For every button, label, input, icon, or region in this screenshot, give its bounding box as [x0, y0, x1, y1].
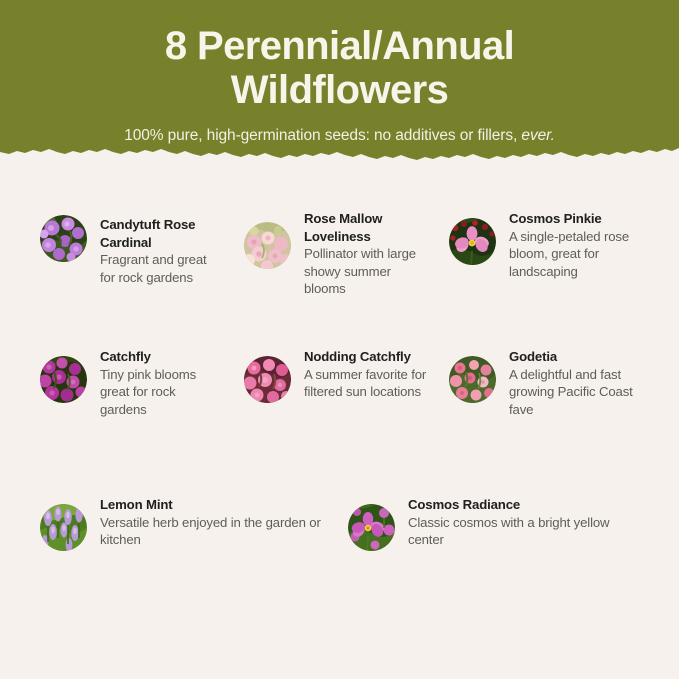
list-item-title: Lemon Mint — [100, 496, 340, 514]
list-item-text: Catchfly Tiny pink blooms great for rock… — [100, 347, 220, 418]
cosmos-pinkie-photo — [449, 218, 496, 265]
list-item-text: Rose Mallow Loveliness Pollinator with l… — [304, 209, 424, 298]
list-item[interactable]: Lemon Mint Versatile herb enjoyed in the… — [40, 495, 340, 551]
list-item[interactable]: Catchfly Tiny pink blooms great for rock… — [40, 347, 220, 418]
list-item-text: Lemon Mint Versatile herb enjoyed in the… — [100, 495, 340, 549]
list-item[interactable]: Rose Mallow Loveliness Pollinator with l… — [244, 209, 424, 298]
wildflower-row: Candytuft Rose Cardinal Fragrant and gre… — [0, 185, 679, 340]
list-item-title: Candytuft Rose Cardinal — [100, 216, 215, 251]
list-item-description: A single-petaled rose bloom, great for l… — [509, 228, 644, 281]
list-item-text: Candytuft Rose Cardinal Fragrant and gre… — [100, 215, 215, 286]
list-item-text: Nodding Catchfly A summer favorite for f… — [304, 347, 429, 401]
list-item-title: Rose Mallow Loveliness — [304, 210, 424, 245]
list-item-title: Cosmos Radiance — [408, 496, 648, 514]
list-item-text: Cosmos Radiance Classic cosmos with a br… — [408, 495, 648, 549]
list-item-title: Catchfly — [100, 348, 220, 366]
page-title-line-2: Wildflowers — [231, 68, 449, 112]
header-banner: 8 Perennial/Annual Wildflowers 100% pure… — [0, 0, 679, 172]
list-item[interactable]: Candytuft Rose Cardinal Fragrant and gre… — [40, 215, 215, 286]
list-item-text: Godetia A delightful and fast growing Pa… — [509, 347, 639, 418]
catchfly-photo — [40, 356, 87, 403]
page-subtitle-main: 100% pure, high-germination seeds: no ad… — [124, 127, 521, 144]
page-title: 8 Perennial/Annual Wildflowers — [165, 24, 514, 112]
list-item-title: Godetia — [509, 348, 639, 366]
list-item-title: Cosmos Pinkie — [509, 210, 644, 228]
list-item[interactable]: Nodding Catchfly A summer favorite for f… — [244, 347, 429, 403]
list-item-text: Cosmos Pinkie A single-petaled rose bloo… — [509, 209, 644, 280]
list-item-description: Classic cosmos with a bright yellow cent… — [408, 514, 648, 549]
list-item-description: Pollinator with large showy summer bloom… — [304, 245, 424, 298]
list-item[interactable]: Cosmos Radiance Classic cosmos with a br… — [348, 495, 648, 551]
list-item[interactable]: Godetia A delightful and fast growing Pa… — [449, 347, 639, 418]
infographic-page: 8 Perennial/Annual Wildflowers 100% pure… — [0, 0, 679, 679]
rose-mallow-loveliness-photo — [244, 222, 291, 269]
list-item-description: A summer favorite for filtered sun locat… — [304, 366, 429, 401]
list-item-description: Tiny pink blooms great for rock gardens — [100, 366, 220, 419]
list-item-title: Nodding Catchfly — [304, 348, 429, 366]
wildflower-row: Lemon Mint Versatile herb enjoyed in the… — [0, 495, 679, 595]
wildflower-list: Candytuft Rose Cardinal Fragrant and gre… — [0, 185, 679, 595]
list-item-description: Versatile herb enjoyed in the garden or … — [100, 514, 340, 549]
page-subtitle-emphasis: ever. — [521, 127, 554, 144]
wildflower-row: Catchfly Tiny pink blooms great for rock… — [0, 340, 679, 495]
list-item-description: Fragrant and great for rock gardens — [100, 251, 215, 286]
list-item[interactable]: Cosmos Pinkie A single-petaled rose bloo… — [449, 209, 644, 280]
header-text-block: 8 Perennial/Annual Wildflowers 100% pure… — [0, 0, 679, 160]
lemon-mint-photo — [40, 504, 87, 551]
page-subtitle: 100% pure, high-germination seeds: no ad… — [124, 126, 555, 146]
godetia-photo — [449, 356, 496, 403]
page-title-line-1: 8 Perennial/Annual — [165, 24, 514, 68]
nodding-catchfly-photo — [244, 356, 291, 403]
candytuft-rose-cardinal-photo — [40, 215, 87, 262]
cosmos-radiance-photo — [348, 504, 395, 551]
list-item-description: A delightful and fast growing Pacific Co… — [509, 366, 639, 419]
